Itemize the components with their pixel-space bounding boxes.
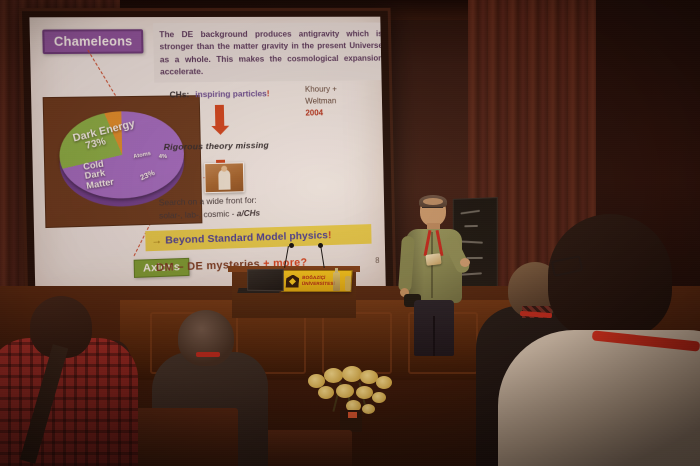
pie-label-cold-dark-matter: ColdDarkMatter: [83, 158, 115, 191]
laptop-screen: [247, 269, 284, 292]
audience-lanyard-balding: [196, 352, 220, 357]
flower-arrangement: [300, 366, 410, 432]
water-bottle-2: [345, 276, 351, 291]
inset-photo: [204, 162, 244, 193]
lecture-hall-photo: Chameleons The DE background produces an…: [0, 0, 700, 466]
speaker-leg-gap: [433, 316, 435, 356]
search-front-text: Search on a wide front for: solar-, lab-…: [159, 194, 261, 224]
speaker: [398, 196, 472, 356]
presentation-slide: Chameleons The DE background produces an…: [29, 17, 385, 302]
foreground-shirt: [498, 330, 700, 466]
university-emblem-icon: [286, 275, 300, 288]
microphone-head-1: [289, 243, 294, 248]
speaker-glasses: [422, 207, 443, 212]
flower-tag: [348, 412, 357, 418]
speaker-badge: [425, 253, 441, 266]
stage-moulding-3: [322, 312, 392, 374]
inset-figure: [218, 170, 230, 190]
chs-inspiring-line: CHs:inspiring particles!: [170, 88, 270, 99]
chameleons-label: Chameleons: [42, 29, 144, 54]
speaker-hand-right: [460, 258, 470, 267]
rigorous-theory-text: Rigorous theory missing: [164, 140, 269, 152]
audience-head-balding: [178, 310, 234, 366]
dark-energy-paragraph: The DE background produces antigravity w…: [153, 23, 386, 83]
down-arrow-icon-1: [215, 105, 224, 127]
university-sign-text: BOĞAZİÇİ ÜNİVERSİTESİ: [302, 275, 336, 286]
pie-value-atoms: 4%: [159, 155, 167, 161]
foreground-head: [548, 214, 672, 338]
microphone-head-2: [318, 243, 323, 248]
water-bottle-1: [333, 272, 340, 291]
citation: Khoury + Weltman 2004: [305, 83, 367, 119]
beyond-standard-model-banner: →Beyond Standard Model physics!: [145, 224, 371, 251]
slide-number: 8: [375, 256, 379, 265]
university-sign: BOĞAZİÇİ ÜNİVERSİTESİ: [281, 270, 353, 292]
